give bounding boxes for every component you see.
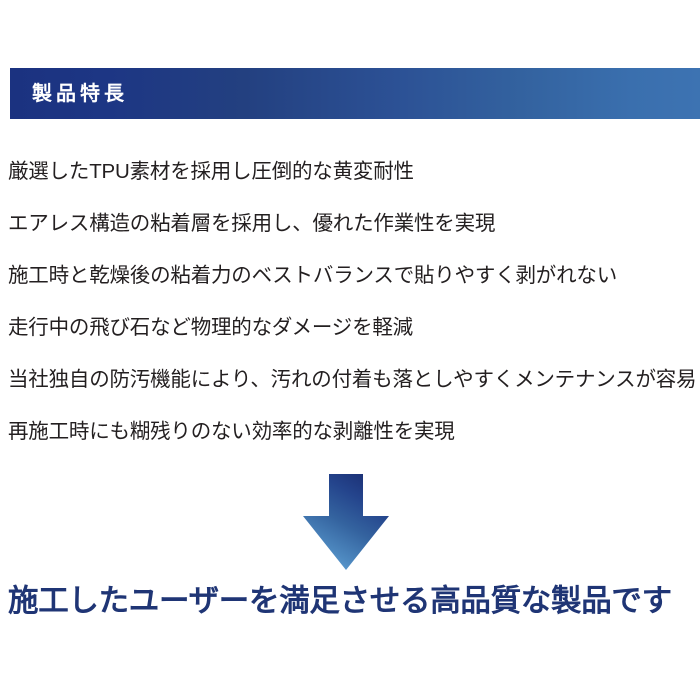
- list-item: 当社独自の防汚機能により、汚れの付着も落としやすくメンテナンスが容易: [8, 354, 700, 406]
- list-item: 再施工時にも糊残りのない効率的な剥離性を実現: [8, 406, 700, 458]
- list-item: エアレス構造の粘着層を採用し、優れた作業性を実現: [8, 198, 700, 250]
- list-item: 厳選したTPU素材を採用し圧倒的な黄変耐性: [8, 146, 700, 198]
- conclusion-text: 施工したユーザーを満足させる高品質な製品です: [8, 578, 700, 624]
- list-item: 走行中の飛び石など物理的なダメージを軽減: [8, 302, 700, 354]
- product-features-panel: 製品特長 厳選したTPU素材を採用し圧倒的な黄変耐性 エアレス構造の粘着層を採用…: [0, 0, 700, 700]
- list-item: 施工時と乾燥後の粘着力のベストバランスで貼りやすく剥がれない: [8, 250, 700, 302]
- feature-list: 厳選したTPU素材を採用し圧倒的な黄変耐性 エアレス構造の粘着層を採用し、優れた…: [8, 146, 700, 458]
- arrow-down-icon: [300, 472, 392, 572]
- section-title: 製品特長: [32, 84, 128, 104]
- section-banner: 製品特長: [10, 68, 700, 119]
